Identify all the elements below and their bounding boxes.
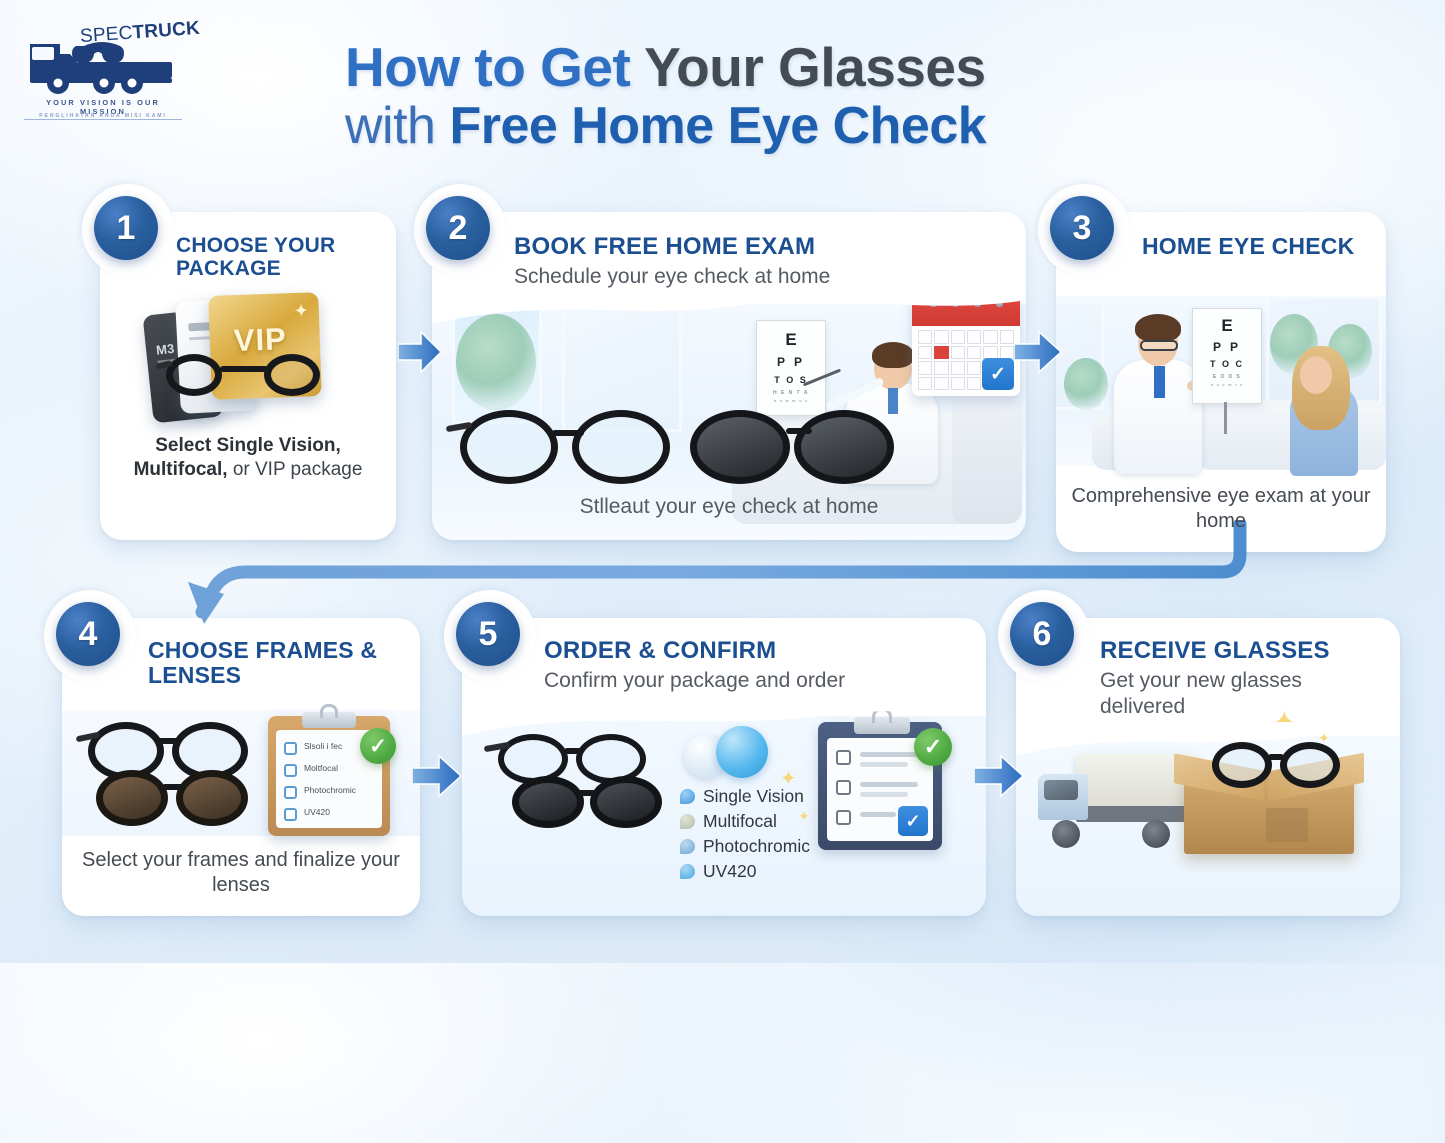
step-card-3[interactable]: 3 HOME EYE CHECK E P P [1056, 212, 1386, 552]
step-card-4[interactable]: 4 CHOOSE FRAMES & LENSES Slsoli i fec Mo… [62, 618, 420, 916]
step-number-badge-6: 6 [1010, 602, 1074, 666]
lens-option-row: Multifocal [680, 811, 870, 832]
eye-chart: E P P T O S H E N T A o x w m v z [756, 320, 826, 416]
step-title-3: HOME EYE CHECK [1142, 234, 1372, 259]
eyeglasses-clear [460, 408, 676, 486]
checklist-item-3: Photochromic [304, 785, 356, 795]
truck-windshield [1044, 780, 1078, 800]
step-card-6[interactable]: 6 RECEIVE GLASSES Get your new glasses d… [1016, 618, 1400, 916]
step-number-badge-1: 1 [94, 196, 158, 260]
eye-chart-row-2: P P [757, 356, 825, 368]
brand-name-part2: TRUCK [132, 18, 201, 44]
page-title: How to Get Your Glasses with Free Home E… [345, 38, 1105, 158]
step-number-badge-3: 3 [1050, 196, 1114, 260]
eye-chart: E P P T O C E O D S n x v m t z [1192, 308, 1262, 404]
arrow-step1-to-step2 [398, 328, 442, 376]
step-title-6: RECEIVE GLASSES [1100, 638, 1392, 664]
confirmed-check-icon: ✓ [360, 728, 396, 764]
chart-stand [1224, 402, 1227, 434]
eye-chart-row-2: P P [1193, 341, 1261, 353]
step-subtitle-5: Confirm your package and order [544, 668, 964, 693]
step-card-2[interactable]: 2 BOOK FREE HOME EXAM Schedule your eye … [432, 212, 1026, 540]
lens-option-row: Single Vision [680, 786, 870, 807]
title-line2-bold: Free Home Eye Check [449, 97, 986, 155]
step-subtitle-6: Get your new glasses delivered [1100, 668, 1392, 718]
lens-drop-icon [680, 789, 695, 804]
eyeglasses-illustration [162, 350, 327, 398]
title-line1-blue: How to Get [345, 36, 630, 98]
step-title-2: BOOK FREE HOME EXAM [514, 234, 1014, 260]
lens-option-2: Multifocal [703, 811, 777, 832]
step-title-5: ORDER & CONFIRM [544, 638, 964, 664]
step-card-5[interactable]: 5 ORDER & CONFIRM Confirm your package a… [462, 618, 986, 916]
arrow-step4-to-step5 [412, 752, 462, 800]
patient-illustration [1270, 344, 1362, 474]
lens-drop-icon [680, 814, 695, 829]
brand-name-part1: SPEC [79, 23, 133, 48]
step-title-1: CHOOSE YOUR PACKAGE [176, 234, 386, 280]
order-confirmed-check: ✓ [898, 806, 928, 836]
lens-drop-icon [680, 839, 695, 854]
step-caption-4: Select your frames and finalize your len… [82, 849, 400, 896]
calendar-confirm-check: ✓ [982, 358, 1014, 390]
eye-chart-row-1: E [757, 331, 825, 348]
sunglasses [690, 408, 890, 486]
eye-chart-row-1: E [1193, 317, 1261, 334]
lens-option-row: UV420 [680, 861, 870, 882]
spectacles-icon [1140, 340, 1178, 351]
sunglasses-brown [96, 770, 250, 830]
lens-option-row: Photochromic [680, 836, 870, 857]
eye-chart-row-3: T O C [1193, 360, 1261, 369]
brand-logo: SPECTRUCK YOUR VISION IS OUR MISSION PEN… [22, 18, 182, 126]
lens-drop-icon [680, 864, 695, 879]
step-number-badge-2: 2 [426, 196, 490, 260]
lens-option-1: Single Vision [703, 786, 804, 807]
step-subtitle-2: Schedule your eye check at home [514, 264, 1014, 289]
arrow-step5-to-step6 [974, 752, 1024, 800]
brand-tagline-secondary: PENGLIHATAN ANDA MISI KAMI [24, 113, 182, 119]
checklist-item-1: Slsoli i fec [304, 741, 342, 751]
lens-option-4: UV420 [703, 861, 757, 882]
checklist-item-4: UV420 [304, 807, 330, 817]
step-caption-3: Comprehensive eye exam at your home [1071, 485, 1370, 532]
connector-step3-to-step4 [150, 520, 1270, 630]
step-caption-2: Stlleaut your eye check at home [580, 495, 879, 518]
lens-options-list: Single Vision Multifocal Photochromic UV… [680, 786, 870, 886]
step-title-4: CHOOSE FRAMES & LENSES [148, 638, 410, 689]
title-line2-thin: with [345, 97, 435, 155]
step-number-badge-4: 4 [56, 602, 120, 666]
checklist-item-2: Moltfocal [304, 763, 338, 773]
step-number-badge-5: 5 [456, 602, 520, 666]
lens-option-3: Photochromic [703, 836, 810, 857]
title-line1-dark: Your Glasses [644, 36, 985, 98]
step-card-1[interactable]: 1 CHOOSE YOUR PACKAGE M3 VIP ✦ Select Si… [100, 212, 396, 540]
sunglasses [512, 776, 662, 832]
lens-checklist-clipboard: Slsoli i fec Moltfocal Photochromic UV42… [268, 716, 390, 836]
step-caption-1: or VIP package [228, 459, 363, 480]
arrow-step2-to-step3 [1014, 328, 1062, 376]
